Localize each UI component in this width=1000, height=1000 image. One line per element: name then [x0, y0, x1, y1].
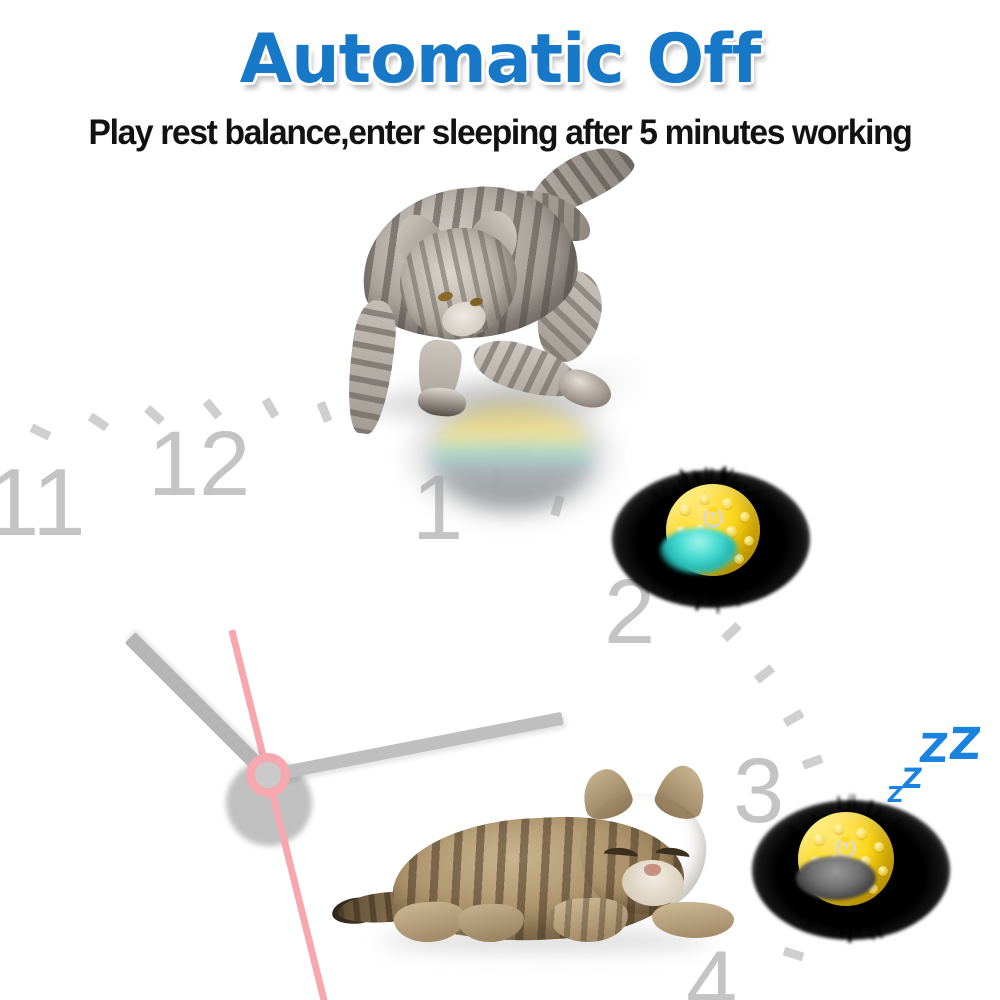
cat-paw-4: [651, 901, 734, 940]
clock-tick: [262, 397, 280, 419]
product-feature-image: 11 12 1 2 3 4 Automatic Off Play rest ba…: [0, 0, 1000, 1000]
clock-tick: [144, 405, 165, 425]
power-icon: [836, 838, 856, 858]
cat-nose: [644, 864, 661, 876]
clock-tick: [783, 947, 805, 962]
page-title: Automatic Off: [0, 20, 1000, 99]
active-ball-led: [660, 528, 738, 574]
clock-tick: [203, 398, 223, 419]
clock-hub: [246, 753, 290, 797]
clock-numeral-12: 12: [148, 418, 250, 510]
clock-tick: [783, 709, 805, 727]
sleeping-ball-led: [796, 856, 876, 900]
pouncing-cat: [322, 150, 632, 430]
clock-numeral-11: 11: [0, 455, 86, 551]
clock-hub-shadow: [226, 760, 312, 846]
cat-paw-left: [417, 386, 468, 419]
sleeping-cat: [332, 752, 752, 1000]
cat-paw-1: [393, 900, 468, 945]
cat-hind-leg-left: [342, 298, 400, 436]
clock-tick: [754, 664, 775, 683]
clock-hour-hand: [125, 632, 273, 780]
clock-second-hand-tail: [228, 629, 271, 776]
sleep-z-4: Z: [947, 723, 984, 767]
power-icon: [703, 508, 723, 528]
sleep-z-3: Z: [917, 729, 950, 769]
page-subtitle: Play rest balance,enter sleeping after 5…: [20, 113, 980, 153]
clock-tick: [802, 754, 824, 769]
clock-tick: [30, 424, 52, 441]
clock-tick: [88, 413, 110, 432]
clock-tick: [721, 622, 742, 642]
